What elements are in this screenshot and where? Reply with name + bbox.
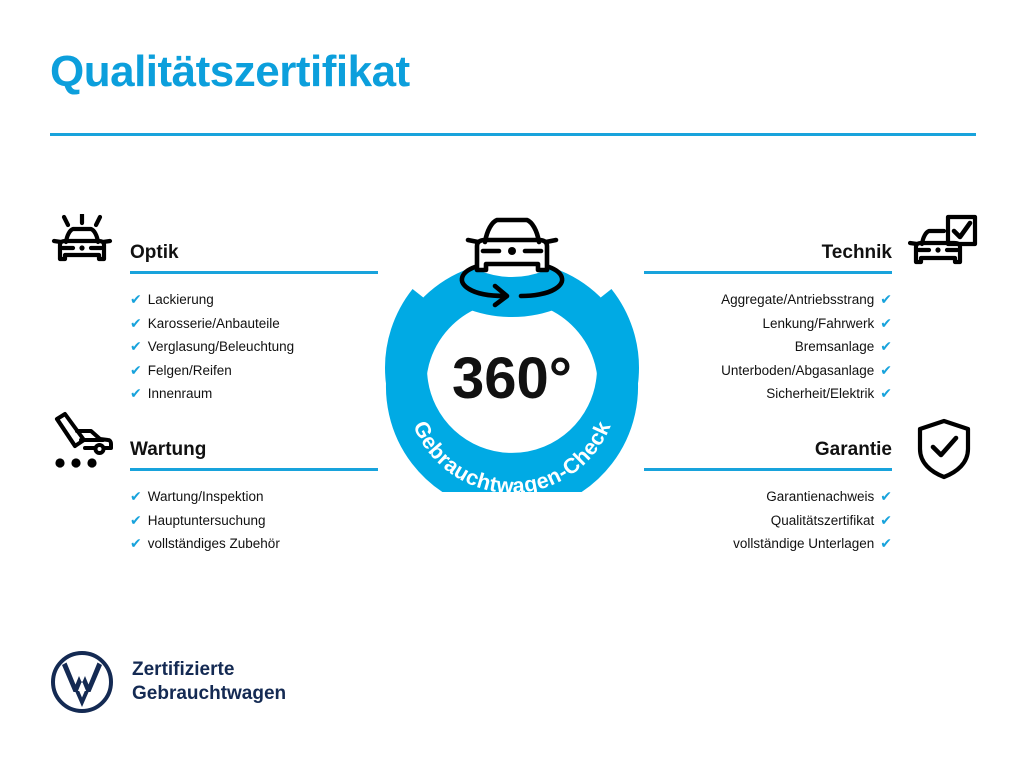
car-front-checkbox-icon [908, 214, 978, 276]
footer-brand-logo: Zertifizierte Gebrauchtwagen [50, 650, 286, 714]
brand-logo-line1: Zertifizierte [132, 658, 286, 682]
section-optik: Optik✔Lackierung✔Karosserie/Anbauteile✔V… [130, 243, 378, 406]
checklist-item-label: Bremsanlage [795, 335, 875, 359]
check-icon: ✔ [130, 382, 142, 406]
section-title-garantie: Garantie [644, 440, 892, 459]
section-divider-wartung [130, 468, 378, 471]
checklist-item: Aggregate/Antriebsstrang✔ [644, 288, 892, 312]
checklist-item-label: vollständige Unterlagen [733, 532, 874, 556]
checklist-item-label: Aggregate/Antriebsstrang [721, 288, 874, 312]
checklist-item: vollständige Unterlagen✔ [644, 532, 892, 556]
car-service-pencil-icon [48, 411, 116, 473]
checklist-item-label: Garantienachweis [766, 485, 874, 509]
checklist-item-label: vollständiges Zubehör [148, 532, 280, 556]
checklist-item-label: Verglasung/Beleuchtung [148, 335, 294, 359]
checklist-item: Bremsanlage✔ [644, 335, 892, 359]
page-title: Qualitätszertifikat [50, 48, 410, 96]
checklist-wartung: ✔Wartung/Inspektion✔Hauptuntersuchung✔vo… [130, 485, 378, 556]
check-icon: ✔ [880, 382, 892, 406]
volkswagen-logo-icon [50, 650, 114, 714]
section-title-technik: Technik [644, 243, 892, 262]
checklist-garantie: Garantienachweis✔Qualitätszertifikat✔vol… [644, 485, 892, 556]
check-icon: ✔ [130, 532, 142, 556]
checklist-item-label: Sicherheit/Elektrik [766, 382, 874, 406]
checklist-item: ✔Wartung/Inspektion [130, 485, 378, 509]
check-icon: ✔ [880, 359, 892, 383]
checklist-item: ✔Karosserie/Anbauteile [130, 312, 378, 336]
checklist-item-label: Hauptuntersuchung [148, 509, 266, 533]
section-divider-technik [644, 271, 892, 274]
section-divider-optik [130, 271, 378, 274]
section-title-wartung: Wartung [130, 440, 378, 459]
checklist-item: Garantienachweis✔ [644, 485, 892, 509]
brand-logo-line2: Gebrauchtwagen [132, 682, 286, 706]
check-icon: ✔ [880, 509, 892, 533]
check-icon: ✔ [130, 288, 142, 312]
check-icon: ✔ [880, 335, 892, 359]
check-icon: ✔ [130, 359, 142, 383]
section-title-optik: Optik [130, 243, 378, 262]
checklist-item: ✔Verglasung/Beleuchtung [130, 335, 378, 359]
checklist-item: ✔Innenraum [130, 382, 378, 406]
certificate-page: Qualitätszertifikat [0, 0, 1024, 768]
check-icon: ✔ [130, 335, 142, 359]
check-icon: ✔ [880, 485, 892, 509]
title-divider [50, 133, 976, 136]
check-icon: ✔ [880, 532, 892, 556]
checklist-item-label: Lackierung [148, 288, 214, 312]
brand-logo-text: Zertifizierte Gebrauchtwagen [132, 658, 286, 707]
car-front-shine-icon [48, 214, 116, 276]
checklist-technik: Aggregate/Antriebsstrang✔Lenkung/Fahrwer… [644, 288, 892, 406]
checklist-item-label: Wartung/Inspektion [148, 485, 264, 509]
checklist-item-label: Innenraum [148, 382, 213, 406]
checklist-item: Qualitätszertifikat✔ [644, 509, 892, 533]
checklist-item-label: Felgen/Reifen [148, 359, 232, 383]
checklist-item-label: Lenkung/Fahrwerk [762, 312, 874, 336]
checklist-item: Unterboden/Abgasanlage✔ [644, 359, 892, 383]
section-garantie: GarantieGarantienachweis✔Qualitätszertif… [644, 440, 892, 556]
shield-check-icon [915, 418, 973, 480]
checklist-item-label: Karosserie/Anbauteile [148, 312, 280, 336]
section-divider-garantie [644, 468, 892, 471]
section-technik: TechnikAggregate/Antriebsstrang✔Lenkung/… [644, 243, 892, 406]
checklist-optik: ✔Lackierung✔Karosserie/Anbauteile✔Vergla… [130, 288, 378, 406]
check-icon: ✔ [130, 485, 142, 509]
checklist-item-label: Unterboden/Abgasanlage [721, 359, 874, 383]
check-icon: ✔ [130, 509, 142, 533]
checklist-item: ✔vollständiges Zubehör [130, 532, 378, 556]
check-icon: ✔ [880, 288, 892, 312]
checklist-item: Sicherheit/Elektrik✔ [644, 382, 892, 406]
checklist-item: ✔Felgen/Reifen [130, 359, 378, 383]
badge-center-label: 360° [452, 346, 572, 411]
section-wartung: Wartung✔Wartung/Inspektion✔Hauptuntersuc… [130, 440, 378, 556]
checklist-item: ✔Hauptuntersuchung [130, 509, 378, 533]
checklist-item-label: Qualitätszertifikat [771, 509, 875, 533]
check-icon: ✔ [130, 312, 142, 336]
checklist-item: Lenkung/Fahrwerk✔ [644, 312, 892, 336]
check-icon: ✔ [880, 312, 892, 336]
360-check-badge: Gebrauchtwagen-Check 360° [371, 202, 653, 492]
checklist-item: ✔Lackierung [130, 288, 378, 312]
